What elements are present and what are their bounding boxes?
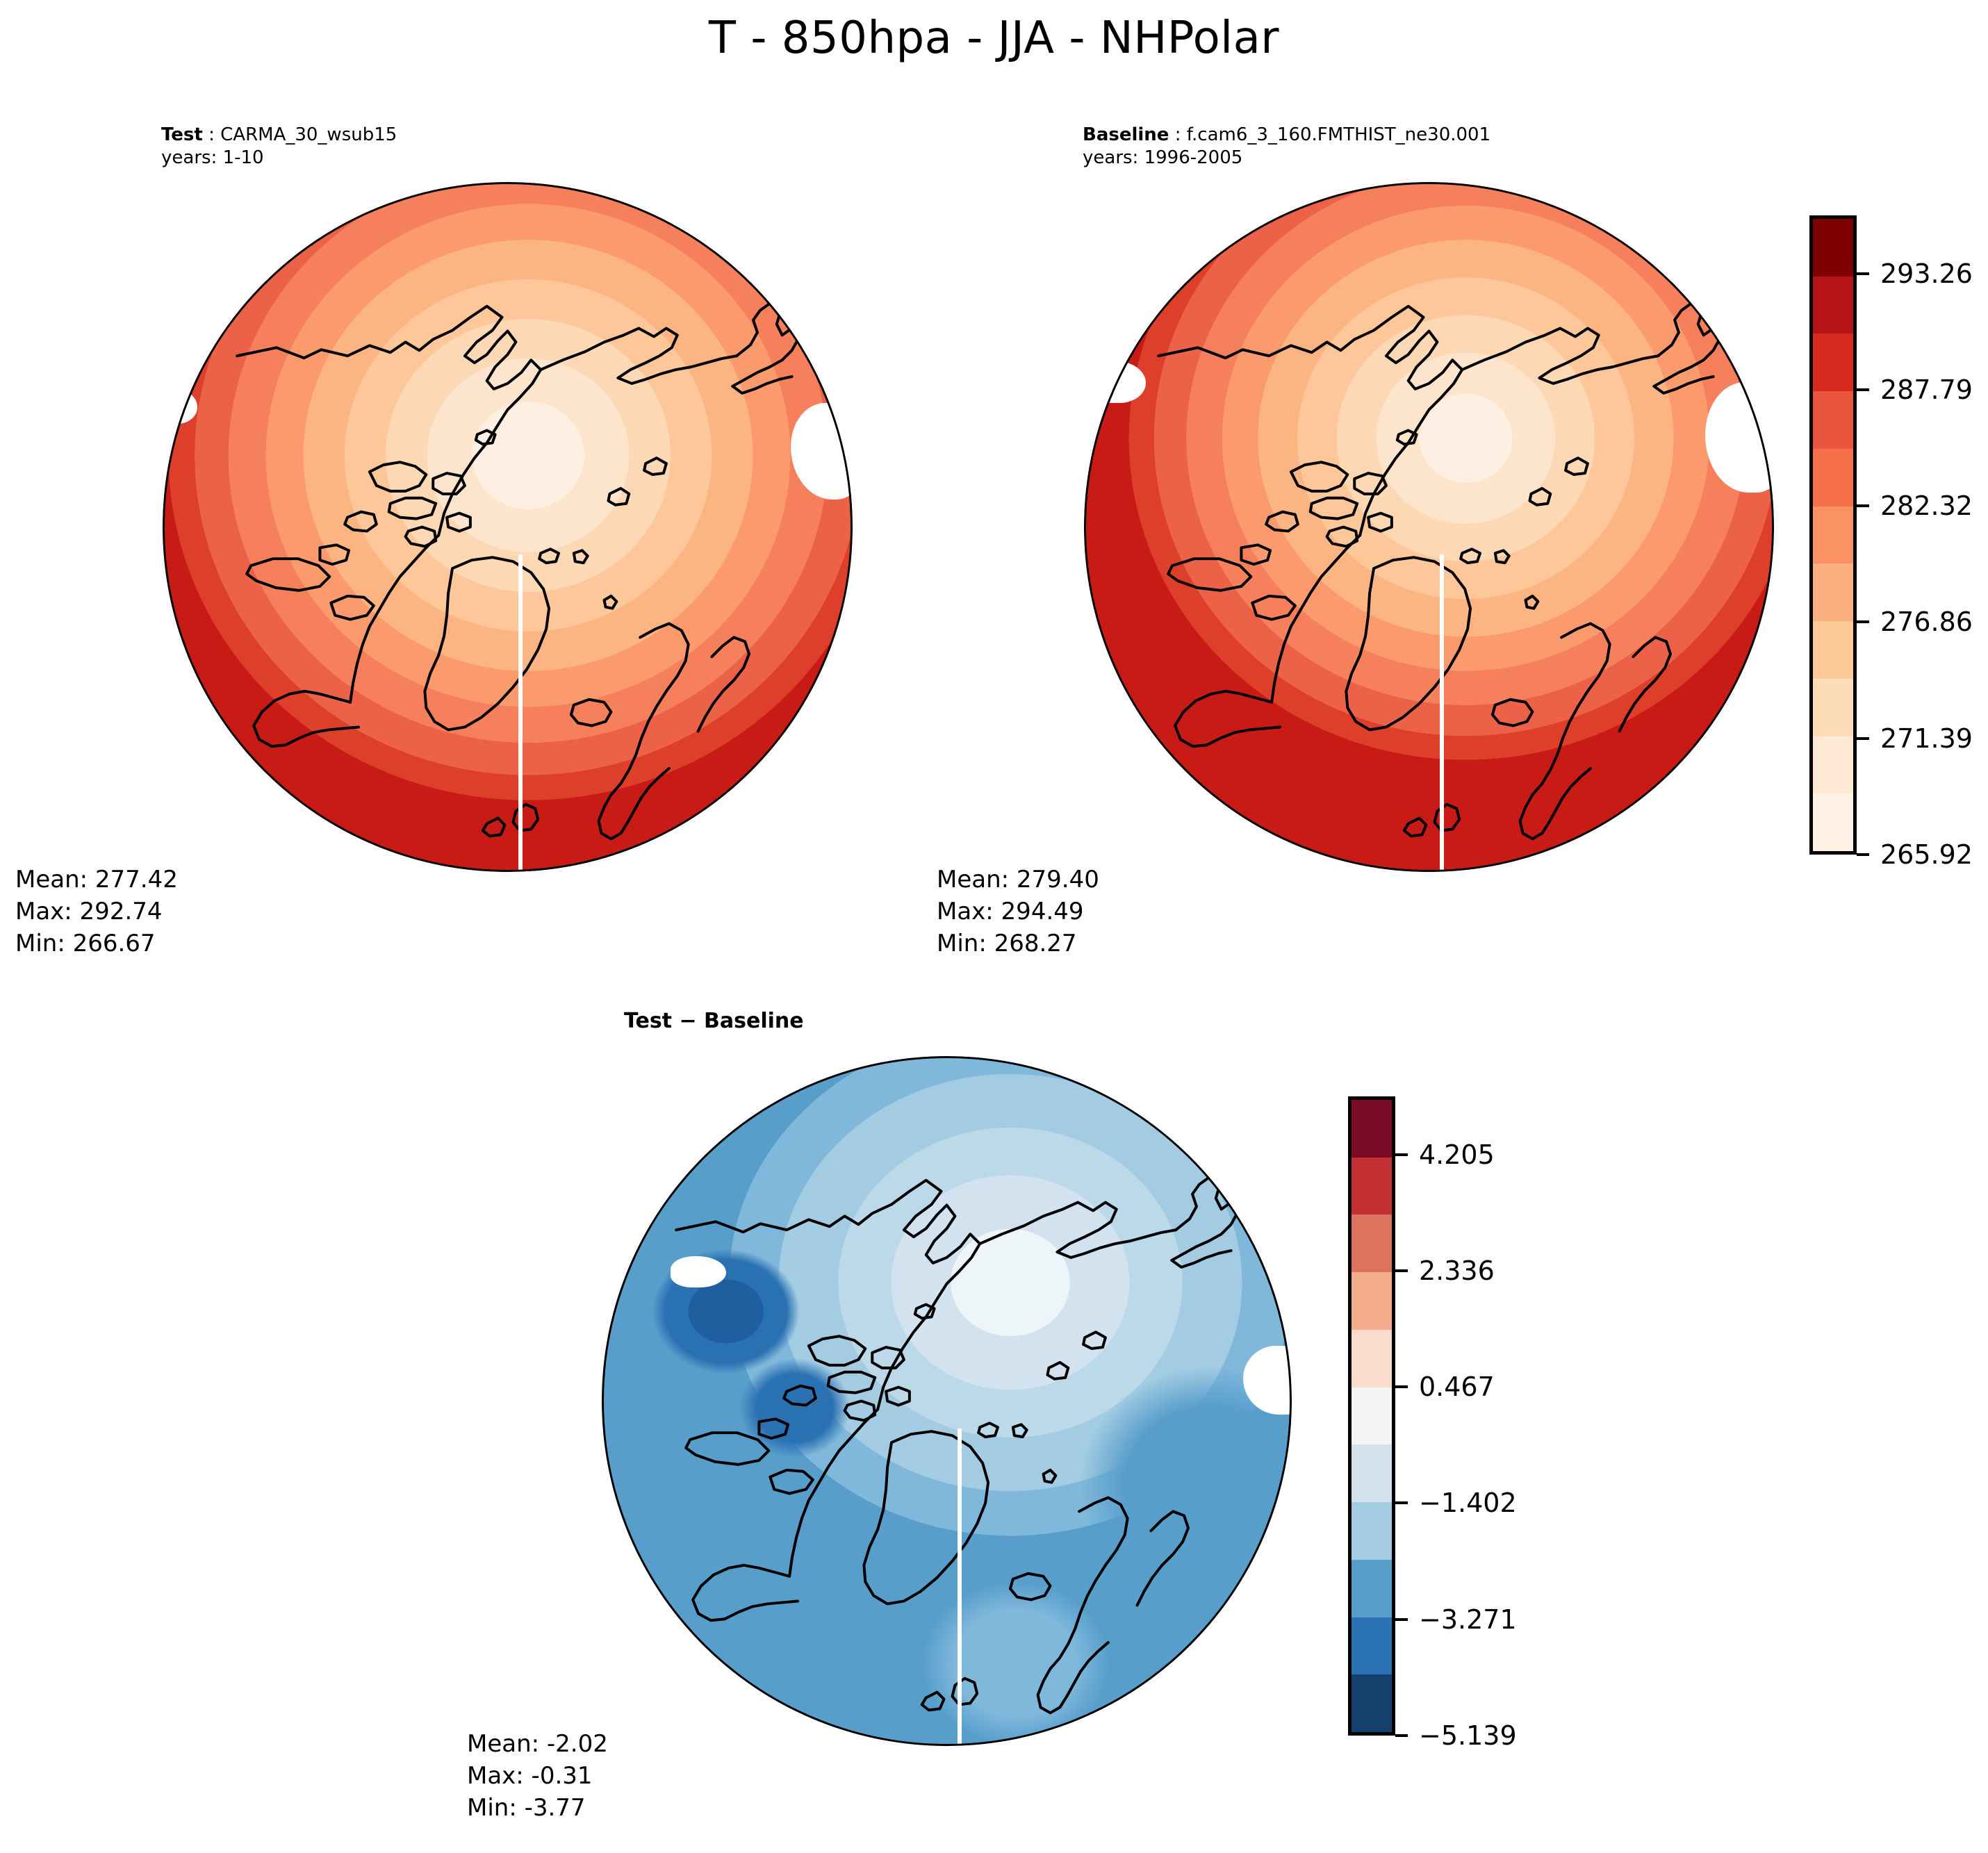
colorbar-tick: 265.92	[1857, 839, 1973, 870]
difference-statistics: Mean: -2.02 Max: -0.31 Min: -3.77	[467, 1728, 608, 1825]
difference-colorbar-gradient[interactable]	[1348, 1096, 1395, 1736]
difference-mean: Mean: -2.02	[467, 1728, 608, 1760]
colorbar-band	[1813, 277, 1853, 334]
colorbar-band	[1352, 1387, 1392, 1445]
baseline-missing-data-blob-left	[1091, 361, 1146, 403]
test-years-label: years: 1-10	[161, 147, 397, 170]
difference-coastlines	[602, 1056, 1292, 1746]
colorbar-tick: 293.26	[1857, 258, 1973, 289]
colorbar-tick-label: 4.205	[1419, 1139, 1495, 1170]
baseline-header-value: f.cam6_3_160.FMTHIST_ne30.001	[1187, 124, 1490, 145]
baseline-panel-header: Baseline : f.cam6_3_160.FMTHIST_ne30.001…	[1083, 124, 1490, 170]
baseline-meridian-seam	[1440, 554, 1444, 872]
colorbar-tick-label: 271.39	[1880, 723, 1973, 754]
test-mean: Mean: 277.42	[15, 864, 178, 896]
colorbar-band	[1813, 507, 1853, 564]
colorbar-band	[1352, 1444, 1392, 1502]
colorbar-tick-mark	[1395, 1269, 1408, 1272]
colorbar-tick-mark	[1857, 504, 1869, 507]
colorbar-band	[1352, 1617, 1392, 1675]
test-header-key: Test	[161, 124, 203, 145]
difference-colorbar[interactable]: 4.2052.3360.467−1.402−3.271−5.139	[1348, 1096, 1556, 1736]
baseline-header-sep: :	[1169, 124, 1186, 145]
colorbar-tick: 276.86	[1857, 607, 1973, 637]
shared-colorbar-gradient[interactable]	[1809, 215, 1857, 855]
colorbar-tick-label: 293.26	[1880, 258, 1973, 289]
colorbar-band	[1813, 793, 1853, 851]
colorbar-band	[1352, 1560, 1392, 1617]
difference-min: Min: -3.77	[467, 1792, 608, 1824]
test-map-panel	[163, 182, 853, 872]
test-header-value: CARMA_30_wsub15	[220, 124, 397, 145]
colorbar-tick: 287.79	[1857, 374, 1973, 405]
test-meridian-seam	[518, 554, 523, 872]
colorbar-tick: −1.402	[1395, 1488, 1517, 1518]
test-max: Max: 292.74	[15, 896, 178, 928]
colorbar-band	[1813, 333, 1853, 391]
colorbar-band	[1813, 219, 1853, 277]
baseline-map-clip	[1084, 182, 1774, 872]
colorbar-tick-mark	[1395, 1153, 1408, 1156]
difference-meridian-seam	[958, 1428, 962, 1746]
difference-map-clip	[602, 1056, 1292, 1746]
colorbar-tick-mark	[1857, 388, 1869, 391]
colorbar-band	[1813, 449, 1853, 507]
colorbar-band	[1352, 1330, 1392, 1387]
shared-temperature-colorbar[interactable]: 293.26287.79282.32276.86271.39265.92	[1809, 215, 1976, 855]
test-map-clip	[163, 182, 853, 872]
baseline-years-label: years: 1996-2005	[1083, 147, 1490, 170]
figure-title: T - 850hpa - JJA - NHPolar	[0, 13, 1988, 64]
colorbar-tick-mark	[1857, 272, 1869, 275]
colorbar-tick: 4.205	[1395, 1139, 1495, 1170]
colorbar-tick: −3.271	[1395, 1604, 1517, 1635]
colorbar-tick-label: 0.467	[1419, 1372, 1495, 1402]
baseline-map-panel	[1084, 182, 1774, 872]
test-min: Min: 266.67	[15, 928, 178, 960]
baseline-max: Max: 294.49	[937, 896, 1099, 928]
colorbar-tick-label: −1.402	[1419, 1488, 1517, 1518]
colorbar-band	[1813, 679, 1853, 736]
colorbar-band	[1813, 621, 1853, 679]
colorbar-tick: −5.139	[1395, 1720, 1517, 1751]
colorbar-tick-mark	[1395, 1501, 1408, 1504]
colorbar-band	[1813, 391, 1853, 449]
difference-max: Max: -0.31	[467, 1760, 608, 1792]
colorbar-band	[1352, 1674, 1392, 1732]
baseline-min: Min: 268.27	[937, 928, 1099, 960]
colorbar-tick-mark	[1395, 1618, 1408, 1621]
colorbar-band	[1352, 1214, 1392, 1272]
colorbar-tick-mark	[1857, 737, 1869, 740]
colorbar-band	[1352, 1158, 1392, 1215]
colorbar-tick-label: −3.271	[1419, 1604, 1517, 1635]
colorbar-tick: 282.32	[1857, 491, 1973, 521]
colorbar-tick-mark	[1395, 1734, 1408, 1737]
difference-colorbar-ticks: 4.2052.3360.467−1.402−3.271−5.139	[1395, 1096, 1555, 1736]
colorbar-band	[1352, 1272, 1392, 1330]
colorbar-tick-label: 2.336	[1419, 1255, 1495, 1286]
colorbar-tick: 0.467	[1395, 1372, 1495, 1402]
test-coastlines	[163, 182, 853, 872]
figure-canvas: T - 850hpa - JJA - NHPolar Test : CARMA_…	[0, 0, 1988, 1853]
test-header-sep: :	[203, 124, 220, 145]
test-statistics: Mean: 277.42 Max: 292.74 Min: 266.67	[15, 864, 178, 960]
colorbar-tick-label: 287.79	[1880, 374, 1973, 405]
colorbar-band	[1352, 1502, 1392, 1560]
shared-colorbar-ticks: 293.26287.79282.32276.86271.39265.92	[1857, 215, 1982, 855]
colorbar-tick: 271.39	[1857, 723, 1973, 754]
baseline-coastlines	[1084, 182, 1774, 872]
colorbar-tick-label: 265.92	[1880, 839, 1973, 870]
test-panel-header: Test : CARMA_30_wsub15 years: 1-10	[161, 124, 397, 170]
difference-missing-data-blob-left	[671, 1256, 725, 1287]
colorbar-tick-label: 282.32	[1880, 491, 1973, 521]
difference-panel-header: Test − Baseline	[624, 1009, 804, 1033]
colorbar-tick-mark	[1395, 1385, 1408, 1388]
colorbar-band	[1813, 736, 1853, 794]
colorbar-tick-mark	[1857, 853, 1869, 856]
baseline-mean: Mean: 279.40	[937, 864, 1099, 896]
difference-map-panel	[602, 1056, 1292, 1746]
colorbar-band	[1352, 1100, 1392, 1158]
colorbar-tick-mark	[1857, 620, 1869, 623]
colorbar-band	[1813, 563, 1853, 621]
colorbar-tick-label: 276.86	[1880, 607, 1973, 637]
baseline-statistics: Mean: 279.40 Max: 294.49 Min: 268.27	[937, 864, 1099, 960]
colorbar-tick: 2.336	[1395, 1255, 1495, 1286]
baseline-header-key: Baseline	[1083, 124, 1169, 145]
colorbar-tick-label: −5.139	[1419, 1720, 1517, 1751]
